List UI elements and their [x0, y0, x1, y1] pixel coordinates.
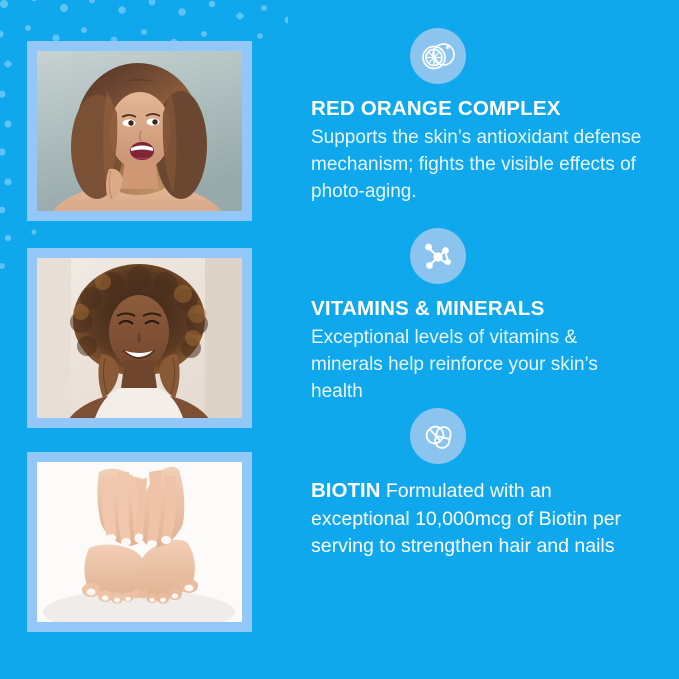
capsule-pills-icon [410, 408, 466, 464]
hands-on-feet-manicure-photo [37, 462, 242, 622]
photo-frame-2 [27, 248, 252, 428]
product-benefits-infographic: RED ORANGE COMPLEX Supports the skin’s a… [0, 0, 679, 679]
smiling-woman-long-hair-photo [37, 51, 242, 211]
feature-title: VITAMINS & MINERALS [311, 296, 649, 322]
feature-block-red-orange-complex: RED ORANGE COMPLEX Supports the skin’s a… [311, 28, 649, 206]
feature-block-vitamins-minerals: VITAMINS & MINERALS Exceptional levels o… [311, 228, 649, 406]
smiling-woman-curly-hair-photo [37, 258, 242, 418]
feature-title: RED ORANGE COMPLEX [311, 96, 649, 122]
photo-frame-3 [27, 452, 252, 632]
feature-body: Exceptional levels of vitamins & mineral… [311, 325, 649, 406]
feature-title: BIOTIN [311, 479, 380, 502]
feature-body: Supports the skin’s antioxidant defense … [311, 125, 649, 206]
citrus-orange-icon [410, 28, 466, 84]
molecule-icon [410, 228, 466, 284]
feature-biotin-text: BIOTIN Formulated with an exceptional 10… [311, 476, 649, 561]
photo-frame-1 [27, 41, 252, 221]
feature-block-biotin: BIOTIN Formulated with an exceptional 10… [311, 408, 649, 561]
